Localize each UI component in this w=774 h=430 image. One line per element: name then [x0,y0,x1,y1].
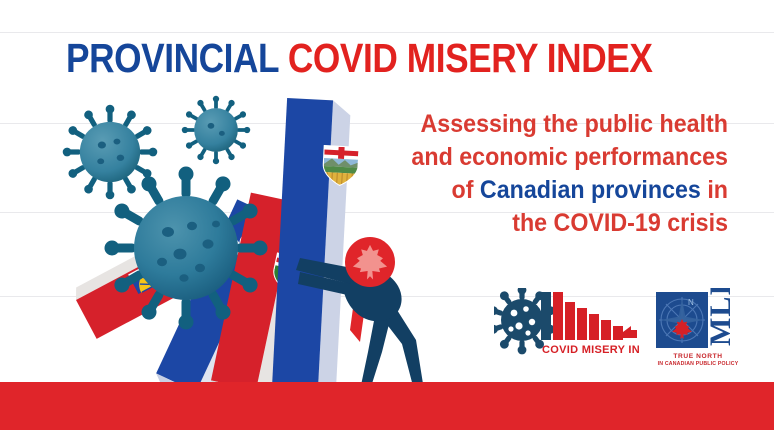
logo-wordmark: COVID MISERY INDEX [542,344,640,356]
subtitle-line-3: of Canadian provinces in [393,174,728,207]
poster-canvas: PROVINCIAL COVID MISERY INDEX Assessing … [0,0,774,430]
subtitle: Assessing the public health and economic… [393,108,728,240]
title-part-provincial: PROVINCIAL [66,35,288,81]
title-part-covid-misery-index: COVID MISERY INDEX [288,35,653,81]
subtitle-line-1: Assessing the public health [393,108,728,141]
subtitle-line-3-pre: of [452,176,480,204]
subtitle-highlight-canadian-provinces: Canadian provinces [480,176,701,204]
mli-acronym: MLI [704,288,737,346]
bar-alberta [271,98,361,401]
svg-text:N: N [688,298,694,307]
subtitle-line-4: the COVID-19 crisis [393,207,728,240]
page-title: PROVINCIAL COVID MISERY INDEX [66,38,652,79]
subtitle-line-3-post: in [701,176,728,204]
virus-particle-small [182,96,250,164]
covid-misery-index-logo[interactable]: COVID MISERY INDEX COVID MISERY INDEX [494,288,640,362]
mli-tagline-line-2: IN CANADIAN PUBLIC POLICY [658,361,739,367]
logo-bars-icon [541,292,637,340]
mli-tagline-line-1: TRUE NORTH [673,353,722,360]
subtitle-line-2: and economic performances [393,141,728,174]
red-floor [0,382,774,430]
mli-logo[interactable]: N MLI TRUE NORTH IN CANADIAN PUBLIC POLI… [652,288,744,368]
logo-row: COVID MISERY INDEX COVID MISERY INDEX N [494,288,744,368]
